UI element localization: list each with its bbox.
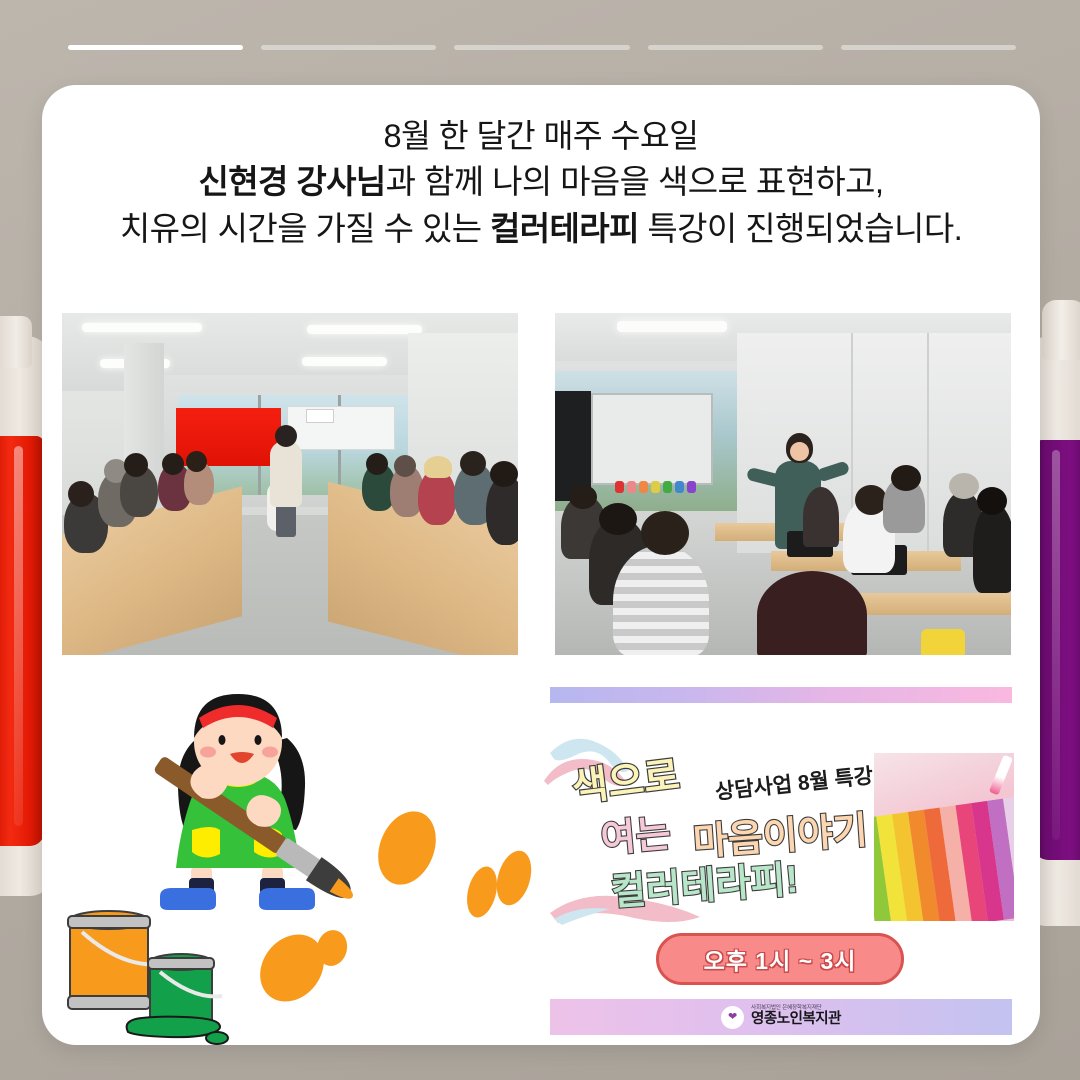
color-bottle-red (615, 481, 624, 493)
yellow-bag (921, 629, 965, 655)
bottle-highlight (1052, 450, 1060, 840)
attendee-head (641, 511, 689, 555)
poster-title-line2b: 마음이야기 (692, 810, 869, 864)
poster-subtitle: 상담사업 8월 특강 (714, 765, 874, 804)
girl-pocket (192, 827, 220, 858)
attendee-back (803, 487, 839, 547)
paint-bucket-orange (68, 911, 160, 1009)
girl-cheek (262, 747, 278, 758)
speaker-body (270, 441, 302, 507)
bottle-highlight (14, 446, 23, 826)
attendee-head (569, 485, 597, 509)
progress-dash-3[interactable] (454, 45, 629, 50)
girl-eye (255, 735, 262, 745)
poster-page: 8월 한 달간 매주 수요일 신현경 강사님과 함께 나의 마음을 색으로 표현… (0, 0, 1080, 1080)
attendee-head (599, 503, 637, 535)
org-logo-icon: ❤ (721, 1006, 744, 1029)
slide-progress-indicator[interactable] (68, 45, 1016, 51)
whiteboard (591, 393, 713, 485)
bottle-cap (0, 316, 32, 368)
color-bottle-yellow (651, 481, 660, 493)
girl-eye (219, 735, 226, 745)
girl-painting-illustration (62, 680, 532, 1045)
attendee-head (124, 453, 148, 477)
heart-icon: ❤ (728, 1012, 737, 1023)
girl-shoe (160, 888, 216, 910)
green-paint-spill (127, 1017, 220, 1038)
progress-dash-2[interactable] (261, 45, 436, 50)
color-bottle-green (663, 481, 672, 493)
whiteboard-notice (306, 409, 334, 423)
ceiling-light (302, 357, 387, 366)
attendee-head (68, 481, 94, 507)
poster-title-line3: 컬러테라피! (610, 859, 800, 914)
poster-wrap: 색으로 상담사업 8월 특강 여는 마음이야기 컬러테라피! 오후 1시 ~ 3… (540, 675, 1022, 1045)
attendee-head (460, 451, 486, 476)
poster-top-gradient-bar (550, 687, 1012, 703)
paint-splotch (491, 847, 532, 910)
paint-splotch (462, 863, 502, 920)
ceiling-light (307, 325, 422, 334)
color-bottle-row (615, 481, 705, 493)
bottle-cap (1042, 300, 1080, 360)
headline-line-2-rest: 과 함께 나의 마음을 색으로 표현하고, (386, 163, 884, 200)
color-bottle-orange (639, 481, 648, 493)
content-card: 8월 한 달간 매주 수요일 신현경 강사님과 함께 나의 마음을 색으로 표현… (42, 85, 1040, 1045)
attendee-head (186, 451, 207, 472)
headline-line-3-post: 특강이 진행되었습니다. (639, 210, 962, 247)
progress-dash-4[interactable] (648, 45, 823, 50)
attendee-head (490, 461, 518, 487)
attendee-back (973, 503, 1011, 593)
wall-seam (927, 333, 929, 553)
org-text-block: 사회복지법인 은혜장학복지재단 영종노인복지관 (751, 1006, 841, 1027)
paint-splotch (368, 803, 447, 894)
photo-instructor-lecture (555, 313, 1011, 655)
color-therapy-poster: 색으로 상담사업 8월 특강 여는 마음이야기 컬러테라피! 오후 1시 ~ 3… (540, 675, 1022, 1045)
headline-line-3: 치유의 시간을 가질 수 있는 컬러테라피 특강이 진행되었습니다. (42, 206, 1040, 253)
headline-line-2: 신현경 강사님과 함께 나의 마음을 색으로 표현하고, (42, 159, 1040, 206)
instructor-face (790, 442, 809, 461)
color-bottle-pink (627, 481, 636, 493)
poster-time-label: 오후 1시 ~ 3시 (704, 942, 857, 976)
poster-title-graphic: 색으로 상담사업 8월 특강 여는 마음이야기 컬러테라피! (544, 727, 904, 927)
ceiling-light (617, 321, 727, 332)
photo-row (62, 313, 1020, 655)
headline-line-3-pre: 치유의 시간을 가질 수 있는 (120, 210, 490, 247)
photo-classroom-wide (62, 313, 518, 655)
org-name: 영종노인복지관 (751, 1012, 841, 1027)
color-bottle-purple (687, 481, 696, 493)
green-paint-drop (206, 1032, 228, 1044)
progress-dash-5[interactable] (841, 45, 1016, 50)
girl-shoe (259, 888, 315, 910)
speaker-head (275, 425, 297, 447)
attendee-head (757, 571, 867, 655)
attendee-grey-hair (949, 473, 979, 499)
headline-block: 8월 한 달간 매주 수요일 신현경 강사님과 함께 나의 마음을 색으로 표현… (42, 113, 1040, 253)
attendee-head (977, 487, 1007, 515)
ceiling-light (82, 323, 202, 332)
headline-program-name: 컬러테라피 (490, 210, 639, 247)
attendee-head (366, 453, 388, 475)
attendee-head (162, 453, 184, 475)
headline-line-1: 8월 한 달간 매주 수요일 (42, 113, 1040, 159)
girl-cheek (200, 747, 216, 758)
progress-dash-1[interactable] (68, 45, 243, 50)
whiteboard (287, 406, 395, 450)
poster-title-line2a: 여는 (599, 813, 672, 861)
attendee-sunhat (424, 456, 452, 478)
color-bottle-blue (675, 481, 684, 493)
attendee-head (891, 465, 921, 491)
headline-instructor-name: 신현경 강사님 (199, 163, 386, 200)
attendee-head (394, 455, 416, 477)
attendee-striped-shirt (613, 545, 709, 655)
poster-time-badge: 오후 1시 ~ 3시 (656, 933, 904, 985)
poster-footer: ❤ 사회복지법인 은혜장학복지재단 영종노인복지관 (550, 999, 1012, 1035)
